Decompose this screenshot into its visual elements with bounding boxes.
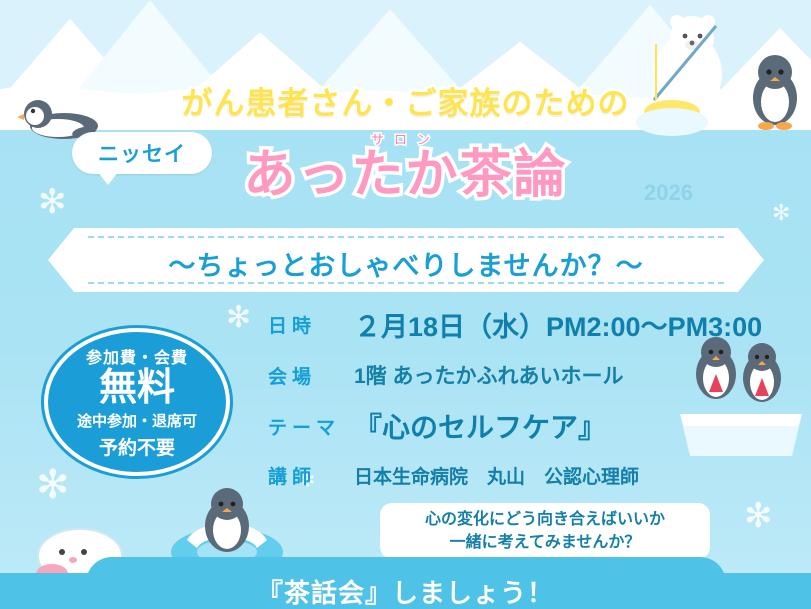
- free-badge-line2: 無料: [99, 369, 175, 409]
- event-details: 日時 ２月18日（水）PM2:00〜PM3:00 会場 1階 あったかふれあいホ…: [268, 305, 798, 505]
- snowflake-icon: ✻: [772, 200, 790, 226]
- bottom-bar-text: 『茶話会』しましょう！: [257, 573, 554, 609]
- detail-label-datetime: 日時: [268, 311, 354, 338]
- snowflake-icon: ✻: [226, 300, 251, 335]
- year-text: 2026: [644, 180, 693, 206]
- snowflake-icon: ✻: [36, 462, 70, 508]
- nissei-badge-label: ニッセイ: [98, 138, 186, 168]
- detail-row-theme: テーマ 『心のセルフケア』: [268, 406, 798, 446]
- free-admission-badge: 参加費・会費 無料 途中参加・退席可 予約不要: [44, 328, 230, 476]
- detail-row-venue: 会場 1階 あったかふれあいホール: [268, 360, 798, 390]
- detail-label-speaker: 講師: [268, 462, 354, 489]
- detail-label-theme: テーマ: [268, 413, 354, 440]
- detail-value-datetime: ２月18日（水）PM2:00〜PM3:00: [354, 305, 762, 344]
- poster-canvas: ✻ ✻ ✻ ✻ ✻ ✻ がん患者さん・ご家族のための サロン あったか茶論 20…: [0, 0, 811, 609]
- free-badge-line3: 途中参加・退席可: [77, 410, 197, 431]
- callout-line1: 心の変化にどう向き合えばいいか: [425, 508, 665, 531]
- detail-row-datetime: 日時 ２月18日（水）PM2:00〜PM3:00: [268, 305, 798, 344]
- detail-row-speaker: 講師 日本生命病院 丸山 公認心理師: [268, 462, 798, 489]
- subtitle-ribbon: 〜ちょっとおしゃべりしませんか？〜: [74, 228, 738, 292]
- free-badge-line1: 参加費・会費: [86, 344, 188, 368]
- free-badge-line4: 予約不要: [99, 433, 175, 460]
- detail-label-venue: 会場: [268, 362, 354, 389]
- callout-box: 心の変化にどう向き合えばいいか 一緒に考えてみませんか？: [380, 503, 710, 559]
- nissei-badge: ニッセイ: [72, 132, 212, 174]
- detail-value-theme: 『心のセルフケア』: [354, 406, 606, 446]
- ribbon-dash-top: [88, 236, 724, 238]
- detail-value-speaker: 日本生命病院 丸山 公認心理師: [354, 462, 639, 489]
- callout-line2: 一緒に考えてみませんか？: [450, 531, 641, 554]
- bottom-bar: 『茶話会』しましょう！: [0, 573, 811, 609]
- subtitle-text: 〜ちょっとおしゃべりしませんか？〜: [74, 244, 738, 283]
- detail-value-venue: 1階 あったかふれあいホール: [354, 360, 624, 390]
- headline-text: がん患者さん・ご家族のための: [0, 78, 811, 123]
